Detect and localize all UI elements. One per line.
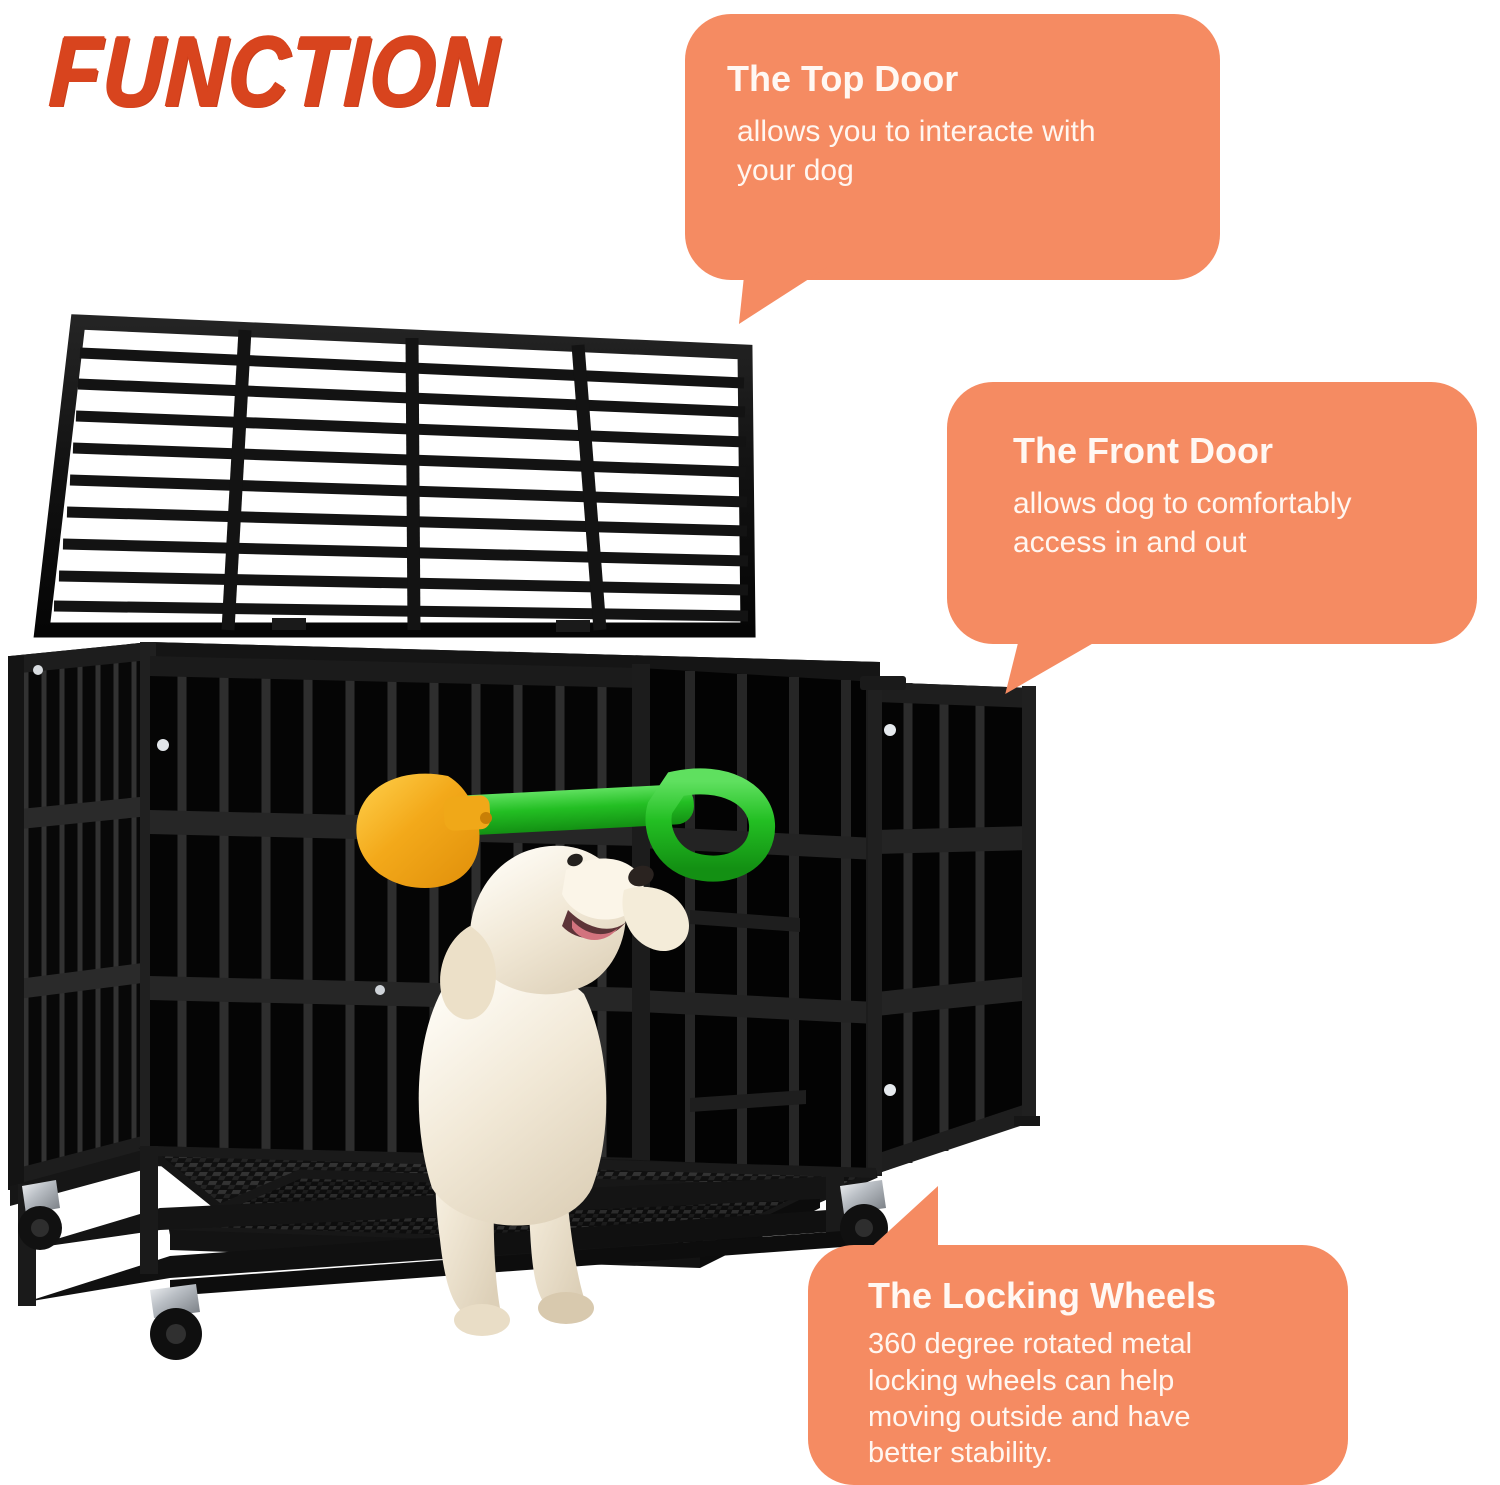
left-side-panel: [8, 642, 156, 1190]
callout-front-door-title: The Front Door: [1013, 430, 1447, 471]
top-door-panel[interactable]: [42, 322, 748, 632]
callout-locking-wheels-tail: [866, 1186, 938, 1252]
callout-locking-wheels[interactable]: The Locking Wheels 360 degree rotated me…: [808, 1245, 1348, 1485]
callout-front-door-body: allows dog to comfortably access in and …: [1013, 485, 1447, 562]
callout-top-door-tail: [739, 266, 829, 324]
callout-locking-wheels-body: 360 degree rotated metal locking wheels …: [868, 1326, 1318, 1471]
page-title: FUNCTION: [48, 22, 502, 121]
callout-front-door-tail: [1005, 640, 1098, 694]
infographic-canvas: FUNCTION: [0, 0, 1500, 1484]
callout-top-door-title: The Top Door: [727, 58, 1184, 99]
callout-top-door[interactable]: The Top Door allows you to interacte wit…: [685, 14, 1220, 280]
callout-locking-wheels-title: The Locking Wheels: [868, 1275, 1318, 1316]
callout-top-door-body: allows you to interacte with your dog: [737, 113, 1184, 190]
front-door-panel[interactable]: [860, 676, 1040, 1174]
callout-front-door[interactable]: The Front Door allows dog to comfortably…: [947, 382, 1477, 644]
